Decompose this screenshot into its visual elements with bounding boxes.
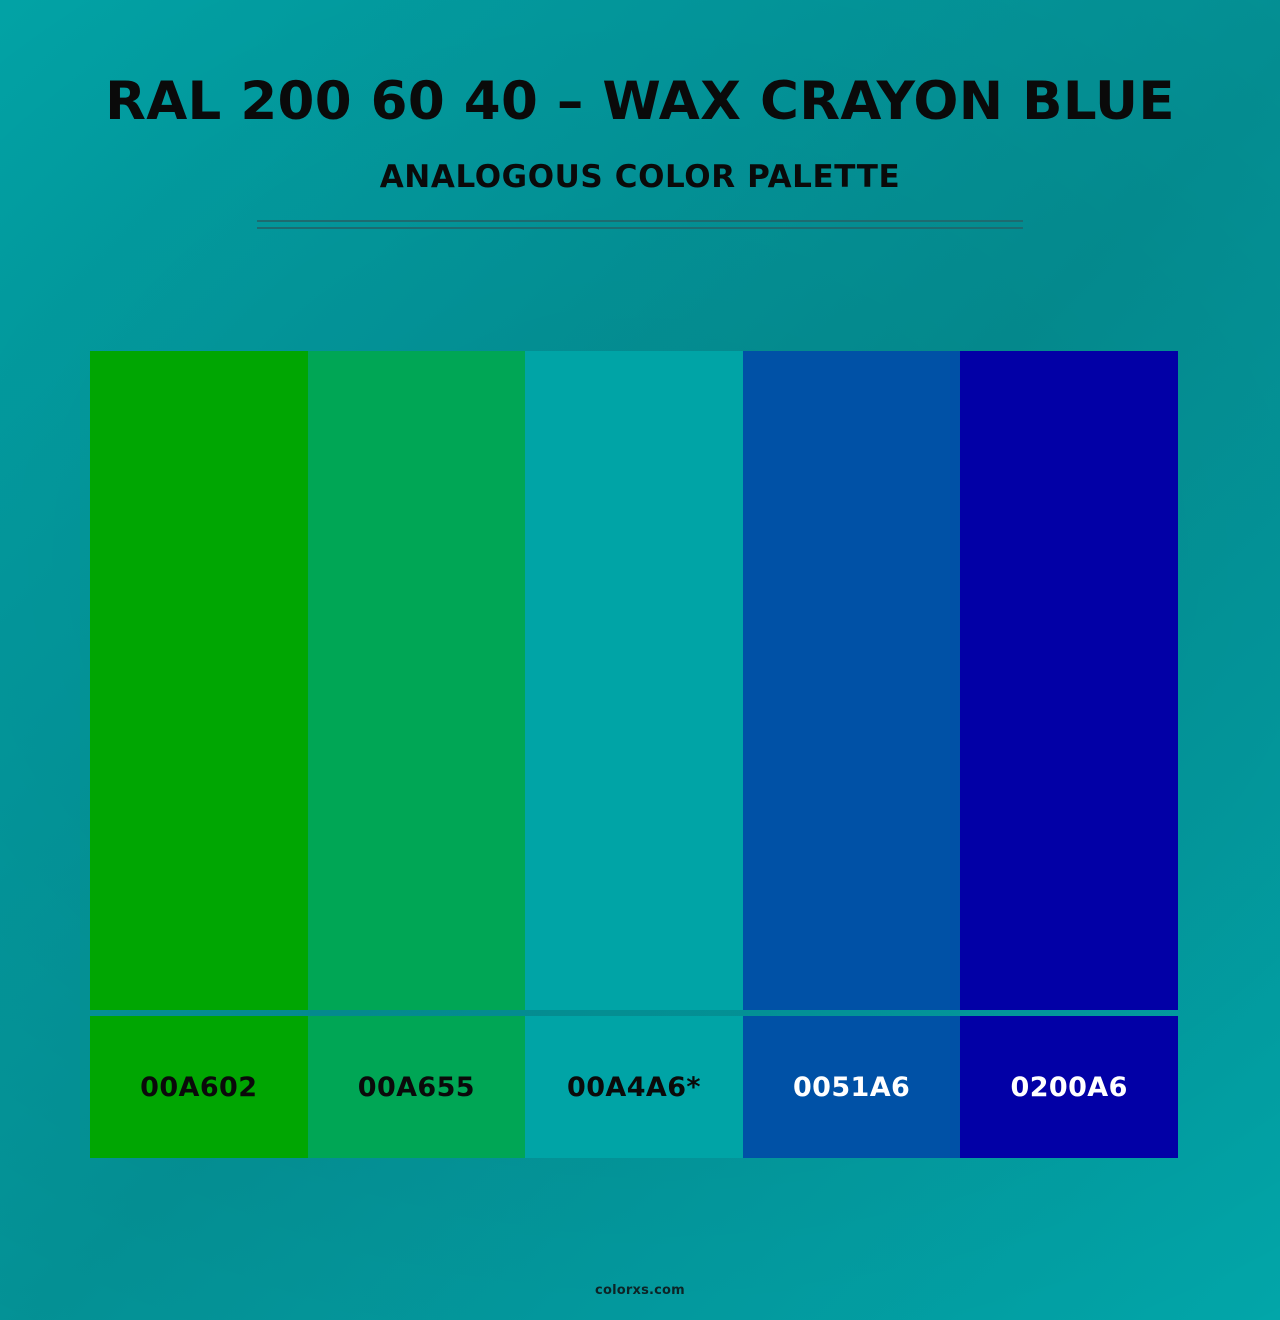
swatch-hex-label: 00A655 [358, 1072, 475, 1103]
swatch-row [90, 351, 1178, 1010]
swatch-label-cell[interactable]: 00A4A6* [525, 1016, 743, 1158]
page-subtitle: ANALOGOUS COLOR PALETTE [0, 130, 1280, 194]
swatch-hex-label: 0200A6 [1011, 1072, 1128, 1103]
site-watermark: colorxs.com [595, 1283, 685, 1298]
swatch-hex-label: 00A602 [140, 1072, 257, 1103]
color-palette: 00A602 00A655 00A4A6* 0051A6 0200A6 [90, 351, 1178, 1158]
label-row: 00A602 00A655 00A4A6* 0051A6 0200A6 [90, 1016, 1178, 1158]
color-swatch[interactable] [90, 351, 308, 1010]
header-divider [257, 220, 1023, 229]
color-swatch[interactable] [960, 351, 1178, 1010]
swatch-label-cell[interactable]: 00A655 [308, 1016, 526, 1158]
page-background: RAL 200 60 40 – WAX CRAYON BLUE ANALOGOU… [0, 0, 1280, 1320]
swatch-label-cell[interactable]: 0051A6 [743, 1016, 961, 1158]
color-swatch[interactable] [308, 351, 526, 1010]
color-swatch[interactable] [743, 351, 961, 1010]
swatch-label-cell[interactable]: 0200A6 [960, 1016, 1178, 1158]
footer: colorxs.com [0, 1279, 1280, 1298]
page-title: RAL 200 60 40 – WAX CRAYON BLUE [0, 0, 1280, 130]
page-header: RAL 200 60 40 – WAX CRAYON BLUE ANALOGOU… [0, 0, 1280, 229]
swatch-hex-label: 00A4A6* [567, 1072, 701, 1103]
swatch-label-cell[interactable]: 00A602 [90, 1016, 308, 1158]
swatch-hex-label: 0051A6 [793, 1072, 910, 1103]
color-swatch[interactable] [525, 351, 743, 1010]
